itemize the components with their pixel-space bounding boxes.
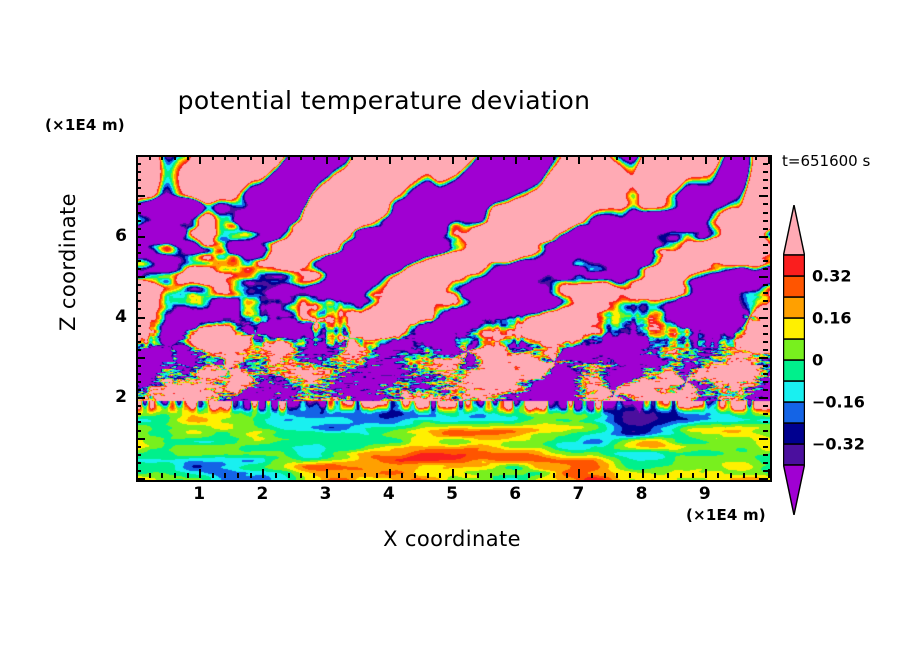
z-axis-minor-tick <box>763 413 768 415</box>
z-axis-minor-tick <box>136 228 141 230</box>
z-axis-minor-tick <box>763 462 768 464</box>
x-axis-minor-tick <box>692 473 694 478</box>
x-axis-minor-tick <box>616 473 618 478</box>
z-axis-minor-tick <box>136 187 141 189</box>
x-axis-major-tick <box>389 469 391 478</box>
x-axis-major-tick <box>199 155 201 164</box>
x-axis-minor-tick <box>376 473 378 478</box>
z-axis-minor-tick <box>763 260 768 262</box>
z-axis-minor-tick <box>763 308 768 310</box>
x-axis-minor-tick <box>667 473 669 478</box>
z-axis-minor-tick <box>763 292 768 294</box>
z-axis-major-tick <box>759 397 768 399</box>
z-axis-minor-tick <box>763 268 768 270</box>
x-axis-major-tick <box>515 469 517 478</box>
x-axis-minor-tick <box>465 473 467 478</box>
z-axis-minor-tick <box>763 405 768 407</box>
x-axis-minor-tick <box>401 155 403 160</box>
z-axis-tick-label: 6 <box>103 226 127 246</box>
x-axis-major-tick <box>326 155 328 164</box>
x-axis-tick-label: 8 <box>636 484 648 504</box>
x-axis-unit-label: (×1E4 m) <box>686 506 766 524</box>
x-axis-minor-tick <box>439 155 441 160</box>
x-axis-minor-tick <box>616 155 618 160</box>
x-axis-major-tick <box>705 155 707 164</box>
colorbar-tick-label: 0 <box>812 351 823 370</box>
x-axis-minor-tick <box>288 155 290 160</box>
z-axis-minor-tick <box>763 430 768 432</box>
z-axis-minor-tick <box>136 341 141 343</box>
x-axis-minor-tick <box>692 155 694 160</box>
z-axis-minor-tick <box>136 365 141 367</box>
z-axis-major-tick <box>759 236 768 238</box>
z-axis-minor-tick <box>763 365 768 367</box>
x-axis-minor-tick <box>540 473 542 478</box>
x-axis-minor-tick <box>224 155 226 160</box>
z-axis-major-tick <box>136 478 145 480</box>
x-axis-minor-tick <box>680 473 682 478</box>
x-axis-minor-tick <box>528 473 530 478</box>
z-axis-minor-tick <box>763 341 768 343</box>
x-axis-minor-tick <box>187 155 189 160</box>
z-axis-minor-tick <box>763 220 768 222</box>
scalar-field-canvas <box>138 157 770 480</box>
z-axis-minor-tick <box>136 308 141 310</box>
x-axis-minor-tick <box>250 473 252 478</box>
x-axis-major-tick <box>578 155 580 164</box>
x-axis-minor-tick <box>553 155 555 160</box>
z-axis-minor-tick <box>136 268 141 270</box>
z-axis-minor-tick <box>136 179 141 181</box>
z-axis-minor-tick <box>763 203 768 205</box>
z-axis-minor-tick <box>136 389 141 391</box>
x-axis-minor-tick <box>364 473 366 478</box>
x-axis-minor-tick <box>566 155 568 160</box>
x-axis-major-tick <box>452 469 454 478</box>
x-axis-minor-tick <box>540 155 542 160</box>
x-axis-minor-tick <box>553 473 555 478</box>
z-axis-major-tick <box>136 317 145 319</box>
x-axis-minor-tick <box>654 473 656 478</box>
z-axis-minor-tick <box>763 228 768 230</box>
z-axis-major-tick <box>136 195 145 197</box>
x-axis-major-tick <box>452 155 454 164</box>
x-axis-minor-tick <box>338 155 340 160</box>
z-axis-major-tick <box>136 357 145 359</box>
x-axis-minor-tick <box>161 155 163 160</box>
x-axis-minor-tick <box>275 155 277 160</box>
colorbar-tick-label: −0.32 <box>812 435 865 454</box>
z-axis-minor-tick <box>763 454 768 456</box>
x-axis-minor-tick <box>161 473 163 478</box>
x-axis-tick-label: 1 <box>193 484 205 504</box>
x-axis-minor-tick <box>313 473 315 478</box>
x-axis-minor-tick <box>149 155 151 160</box>
x-axis-minor-tick <box>629 155 631 160</box>
z-axis-minor-tick <box>136 203 141 205</box>
x-axis-minor-tick <box>300 473 302 478</box>
x-axis-minor-tick <box>717 155 719 160</box>
z-axis-minor-tick <box>136 405 141 407</box>
z-axis-major-tick <box>136 438 145 440</box>
z-axis-minor-tick <box>763 300 768 302</box>
z-axis-minor-tick <box>763 244 768 246</box>
x-axis-minor-tick <box>477 473 479 478</box>
z-axis-minor-tick <box>136 430 141 432</box>
x-axis-minor-tick <box>566 473 568 478</box>
x-axis-minor-tick <box>174 155 176 160</box>
x-axis-tick-label: 2 <box>256 484 268 504</box>
x-axis-minor-tick <box>300 155 302 160</box>
x-axis-minor-tick <box>351 155 353 160</box>
x-axis-minor-tick <box>351 473 353 478</box>
x-axis-minor-tick <box>237 155 239 160</box>
z-axis-minor-tick <box>136 284 141 286</box>
z-axis-minor-tick <box>136 470 141 472</box>
x-axis-minor-tick <box>490 155 492 160</box>
z-axis-minor-tick <box>763 389 768 391</box>
x-axis-minor-tick <box>212 155 214 160</box>
z-axis-major-tick <box>136 236 145 238</box>
x-axis-minor-tick <box>629 473 631 478</box>
x-axis-major-tick <box>199 469 201 478</box>
x-axis-minor-tick <box>604 155 606 160</box>
x-axis-minor-tick <box>427 155 429 160</box>
x-axis-minor-tick <box>755 155 757 160</box>
x-axis-major-tick <box>768 155 770 164</box>
x-axis-minor-tick <box>717 473 719 478</box>
x-axis-minor-tick <box>465 155 467 160</box>
z-axis-major-tick <box>759 357 768 359</box>
x-axis-tick-label: 6 <box>509 484 521 504</box>
x-axis-major-tick <box>642 469 644 478</box>
x-axis-minor-tick <box>743 155 745 160</box>
colorbar-tick-label: 0.16 <box>812 309 851 328</box>
x-axis-minor-tick <box>187 473 189 478</box>
z-axis-minor-tick <box>763 446 768 448</box>
z-axis-major-tick <box>759 478 768 480</box>
x-axis-major-tick <box>578 469 580 478</box>
x-axis-major-tick <box>262 469 264 478</box>
z-axis-minor-tick <box>136 171 141 173</box>
z-axis-minor-tick <box>136 349 141 351</box>
z-axis-minor-tick <box>763 212 768 214</box>
z-axis-minor-tick <box>763 252 768 254</box>
x-axis-minor-tick <box>503 155 505 160</box>
x-axis-major-tick <box>705 469 707 478</box>
x-axis-minor-tick <box>528 155 530 160</box>
z-axis-minor-tick <box>136 292 141 294</box>
x-axis-tick-label: 3 <box>320 484 332 504</box>
contour-plot-area <box>136 155 772 482</box>
z-axis-minor-tick <box>763 421 768 423</box>
x-axis-major-tick <box>768 469 770 478</box>
x-axis-minor-tick <box>250 155 252 160</box>
z-axis-major-tick <box>759 317 768 319</box>
z-axis-minor-tick <box>763 171 768 173</box>
x-axis-tick-label: 7 <box>572 484 584 504</box>
x-axis-minor-tick <box>591 155 593 160</box>
x-axis-minor-tick <box>237 473 239 478</box>
x-axis-major-tick <box>262 155 264 164</box>
x-axis-minor-tick <box>338 473 340 478</box>
z-axis-minor-tick <box>136 381 141 383</box>
z-axis-minor-tick <box>136 212 141 214</box>
z-axis-major-tick <box>759 195 768 197</box>
z-axis-minor-tick <box>136 300 141 302</box>
x-axis-minor-tick <box>414 473 416 478</box>
x-axis-tick-label: 5 <box>446 484 458 504</box>
z-axis-major-tick <box>759 438 768 440</box>
z-axis-unit-label: (×1E4 m) <box>45 116 125 134</box>
z-axis-minor-tick <box>136 220 141 222</box>
x-axis-minor-tick <box>149 473 151 478</box>
colorbar-tick-label: −0.16 <box>812 393 865 412</box>
colorbar <box>783 205 805 515</box>
z-axis-major-tick <box>759 155 768 157</box>
z-axis-tick-label: 2 <box>103 387 127 407</box>
x-axis-minor-tick <box>401 473 403 478</box>
colorbar-canvas <box>783 205 805 515</box>
z-axis-minor-tick <box>763 179 768 181</box>
x-axis-major-tick <box>642 155 644 164</box>
z-axis-minor-tick <box>136 260 141 262</box>
x-axis-minor-tick <box>591 473 593 478</box>
z-axis-minor-tick <box>763 284 768 286</box>
x-axis-minor-tick <box>490 473 492 478</box>
z-axis-minor-tick <box>763 349 768 351</box>
x-axis-minor-tick <box>212 473 214 478</box>
z-axis-tick-label: 4 <box>103 307 127 327</box>
x-axis-minor-tick <box>376 155 378 160</box>
x-axis-minor-tick <box>730 473 732 478</box>
x-axis-minor-tick <box>414 155 416 160</box>
z-axis-major-tick <box>759 276 768 278</box>
x-axis-major-tick <box>326 469 328 478</box>
z-axis-minor-tick <box>136 373 141 375</box>
z-axis-major-tick <box>136 397 145 399</box>
x-axis-minor-tick <box>755 473 757 478</box>
z-axis-minor-tick <box>136 413 141 415</box>
x-axis-minor-tick <box>288 473 290 478</box>
x-axis-minor-tick <box>364 155 366 160</box>
x-axis-major-tick <box>389 155 391 164</box>
colorbar-tick-label: 0.32 <box>812 267 851 286</box>
x-axis-minor-tick <box>275 473 277 478</box>
x-axis-minor-tick <box>743 473 745 478</box>
x-axis-minor-tick <box>667 155 669 160</box>
x-axis-minor-tick <box>477 155 479 160</box>
z-axis-title: Z coordinate <box>56 172 80 352</box>
x-axis-minor-tick <box>730 155 732 160</box>
z-axis-major-tick <box>136 276 145 278</box>
z-axis-minor-tick <box>763 187 768 189</box>
x-axis-minor-tick <box>427 473 429 478</box>
x-axis-minor-tick <box>313 155 315 160</box>
x-axis-minor-tick <box>604 473 606 478</box>
x-axis-title: X coordinate <box>136 527 768 551</box>
z-axis-minor-tick <box>136 454 141 456</box>
x-axis-minor-tick <box>224 473 226 478</box>
x-axis-minor-tick <box>439 473 441 478</box>
x-axis-major-tick <box>515 155 517 164</box>
z-axis-minor-tick <box>136 333 141 335</box>
x-axis-tick-label: 4 <box>383 484 395 504</box>
z-axis-minor-tick <box>763 373 768 375</box>
z-axis-minor-tick <box>136 421 141 423</box>
x-axis-minor-tick <box>654 155 656 160</box>
z-axis-minor-tick <box>136 462 141 464</box>
x-axis-tick-label: 9 <box>699 484 711 504</box>
z-axis-minor-tick <box>136 252 141 254</box>
page-title: potential temperature deviation <box>0 86 768 115</box>
x-axis-minor-tick <box>174 473 176 478</box>
z-axis-minor-tick <box>136 163 141 165</box>
timestamp-annotation: t=651600 s <box>782 152 870 170</box>
z-axis-minor-tick <box>136 325 141 327</box>
x-axis-minor-tick <box>680 155 682 160</box>
z-axis-minor-tick <box>763 381 768 383</box>
z-axis-major-tick <box>136 155 145 157</box>
z-axis-minor-tick <box>763 325 768 327</box>
z-axis-minor-tick <box>136 446 141 448</box>
z-axis-minor-tick <box>136 244 141 246</box>
x-axis-minor-tick <box>503 473 505 478</box>
z-axis-minor-tick <box>763 470 768 472</box>
z-axis-minor-tick <box>763 333 768 335</box>
z-axis-minor-tick <box>763 163 768 165</box>
